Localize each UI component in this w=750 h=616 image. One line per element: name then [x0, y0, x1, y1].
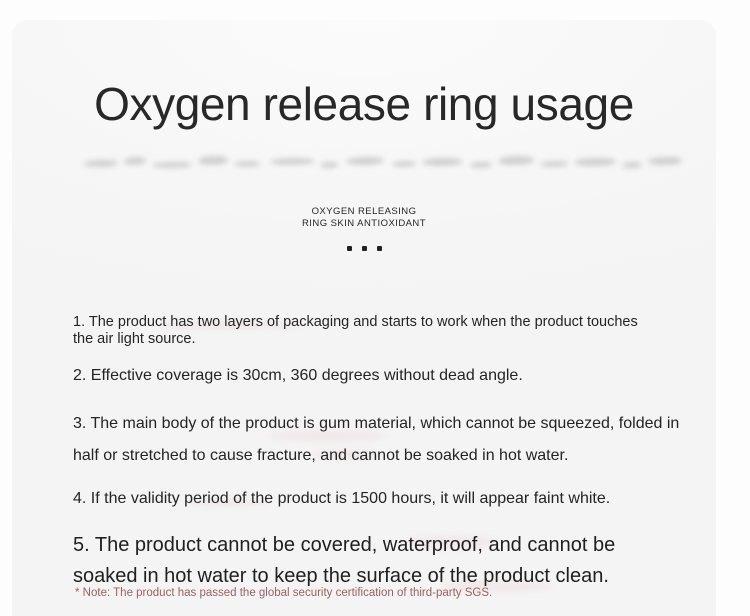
instruction-item-1: 1. The product has two layers of packagi…: [73, 314, 645, 348]
instruction-item-4: 4. If the validity period of the product…: [73, 488, 707, 510]
product-info-page: Oxygen release ring usage OXYGEN RELEASI…: [0, 0, 750, 616]
page-title-block: Oxygen release ring usage: [12, 80, 716, 130]
product-info-card: Oxygen release ring usage OXYGEN RELEASI…: [12, 20, 716, 616]
page-title: Oxygen release ring usage: [12, 80, 716, 130]
divider-dot-icon: [377, 246, 382, 251]
divider-dots: [12, 246, 716, 251]
instruction-item-4-text: 4. If the validity period of the product…: [73, 488, 707, 510]
instruction-item-1-text: 1. The product has two layers of packagi…: [73, 314, 645, 348]
instruction-item-2-text: 2. Effective coverage is 30cm, 360 degre…: [73, 366, 707, 386]
instruction-item-5-text: 5. The product cannot be covered, waterp…: [73, 530, 683, 592]
divider-dot-icon: [347, 246, 352, 251]
brand-subtitle-line-2: RING SKIN ANTIOXIDANT: [12, 218, 716, 230]
instruction-list: 1. The product has two layers of packagi…: [73, 314, 707, 592]
instruction-item-2: 2. Effective coverage is 30cm, 360 degre…: [73, 366, 707, 386]
instruction-item-3: 3. The main body of the product is gum m…: [73, 408, 707, 472]
erased-text-smudge: [80, 146, 694, 190]
certification-note: * Note: The product has passed the globa…: [75, 586, 545, 601]
instruction-item-5: 5. The product cannot be covered, waterp…: [73, 530, 683, 592]
brand-subtitle: OXYGEN RELEASING RING SKIN ANTIOXIDANT: [12, 206, 716, 230]
divider-dot-icon: [362, 246, 367, 251]
instruction-item-3-text: 3. The main body of the product is gum m…: [73, 408, 707, 472]
brand-subtitle-line-1: OXYGEN RELEASING: [12, 206, 716, 218]
